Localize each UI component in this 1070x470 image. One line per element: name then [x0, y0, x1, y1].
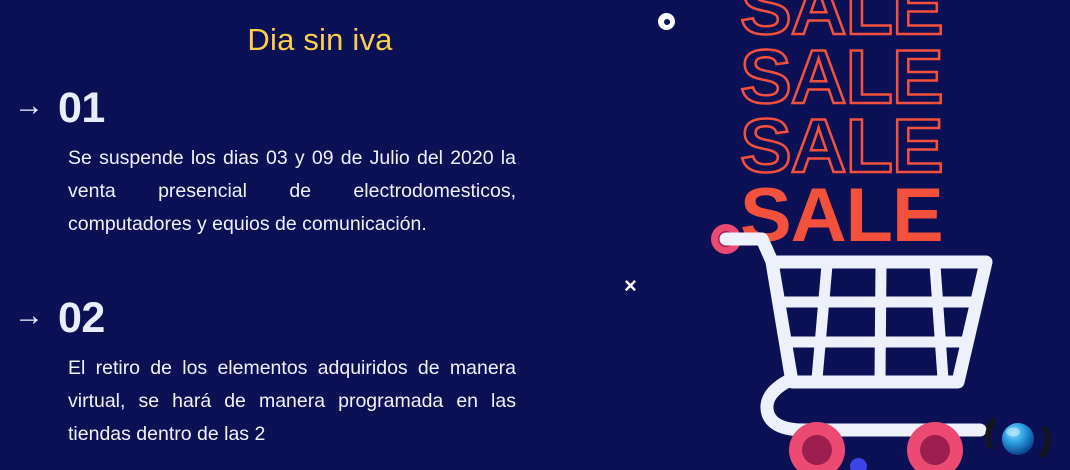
arrow-right-icon: → — [14, 301, 44, 331]
glossy-orb-icon — [985, 408, 1051, 470]
sale-text-outline: SALE — [740, 112, 1015, 181]
item-number: 01 — [58, 86, 105, 131]
list-item: → 01 Se suspende los dias 03 y 09 de Jul… — [0, 86, 560, 241]
list-item: → 02 El retiro de los elementos adquirid… — [0, 296, 560, 451]
orb-sphere — [1002, 423, 1034, 455]
orb-arc-right — [1039, 426, 1051, 459]
cart-grid-line — [935, 265, 943, 379]
item-body-text: Se suspende los dias 03 y 09 de Julio de… — [68, 142, 516, 241]
item-body-text: El retiro de los elementos adquiridos de… — [68, 352, 516, 451]
sale-text-stack: SALE SALE SALE SALE — [740, 0, 1010, 250]
item-header: → 02 — [0, 296, 560, 341]
arrow-right-icon: → — [14, 91, 44, 121]
cart-grid-line — [880, 265, 881, 379]
shopping-cart-svg — [700, 218, 1030, 470]
glossy-orb-svg — [985, 408, 1051, 470]
orb-arc-left — [985, 417, 997, 450]
sale-text-outline: SALE — [740, 43, 1015, 112]
page-title: Dia sin iva — [0, 22, 640, 58]
cart-wheel-left-hub — [802, 435, 832, 465]
orb-highlight — [1006, 428, 1020, 437]
item-number: 02 — [58, 296, 105, 341]
item-header: → 01 — [0, 86, 560, 131]
x-mark-icon: × — [624, 275, 637, 297]
shopping-cart-icon — [700, 218, 1030, 470]
cart-wheel-right-hub — [920, 435, 950, 465]
slide-canvas: Dia sin iva → 01 Se suspende los dias 03… — [0, 0, 1070, 470]
cart-grid-line — [817, 265, 827, 379]
ring-dot-icon — [658, 13, 675, 30]
